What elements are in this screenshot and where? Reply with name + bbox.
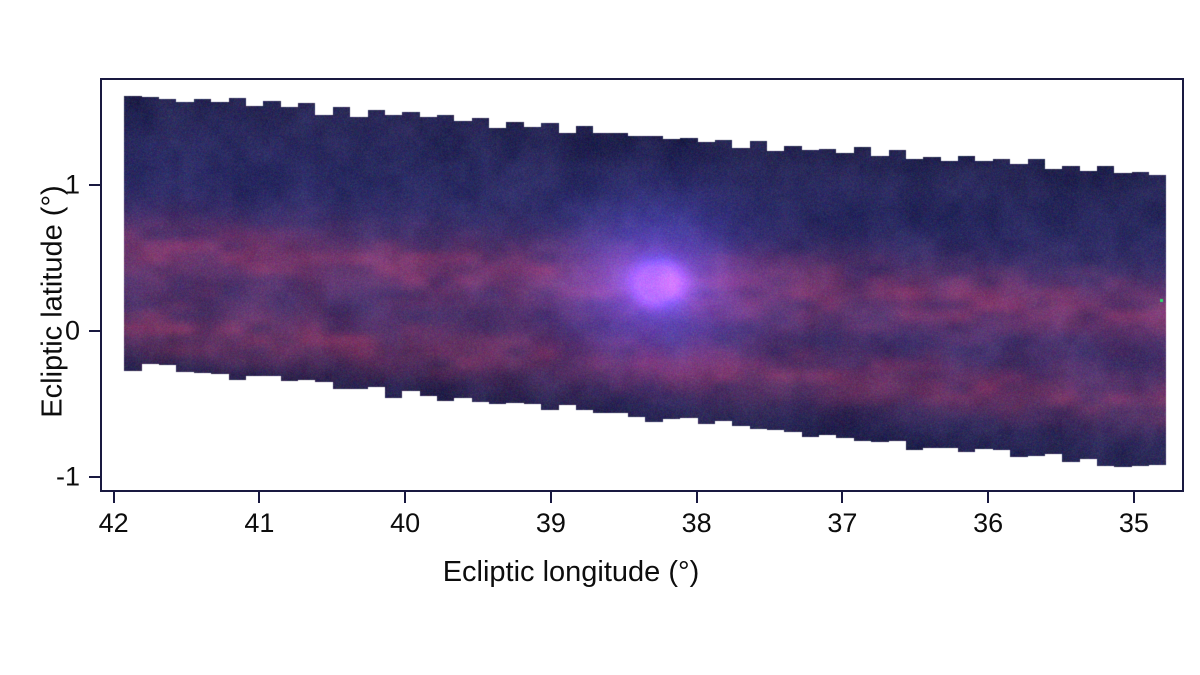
y-axis-label: Ecliptic latitude (°) [37,67,70,537]
x-tick-41 [258,492,260,503]
plot-area [100,78,1184,492]
x-tick-40 [404,492,406,503]
x-tick-label-42: 42 [99,508,129,539]
x-tick-label-36: 36 [973,508,1003,539]
x-tick-38 [696,492,698,503]
y-tick-0 [89,330,100,332]
x-tick-label-38: 38 [682,508,712,539]
x-axis-label-text: Ecliptic longitude (°) [443,556,700,589]
sky-survey-image [102,80,1182,490]
x-tick-label-40: 40 [390,508,420,539]
x-tick-label-35: 35 [1119,508,1149,539]
y-tick-1 [89,184,100,186]
y-tick--1 [89,476,100,478]
figure-root: 4241403938373635 10-1 Ecliptic longitude… [0,0,1200,675]
x-tick-label-37: 37 [827,508,857,539]
x-tick-36 [987,492,989,503]
x-tick-42 [113,492,115,503]
x-tick-label-41: 41 [244,508,274,539]
x-tick-35 [1133,492,1135,503]
x-axis-label: Ecliptic longitude (°) [0,556,1200,589]
x-tick-37 [841,492,843,503]
x-tick-39 [550,492,552,503]
x-tick-label-39: 39 [536,508,566,539]
